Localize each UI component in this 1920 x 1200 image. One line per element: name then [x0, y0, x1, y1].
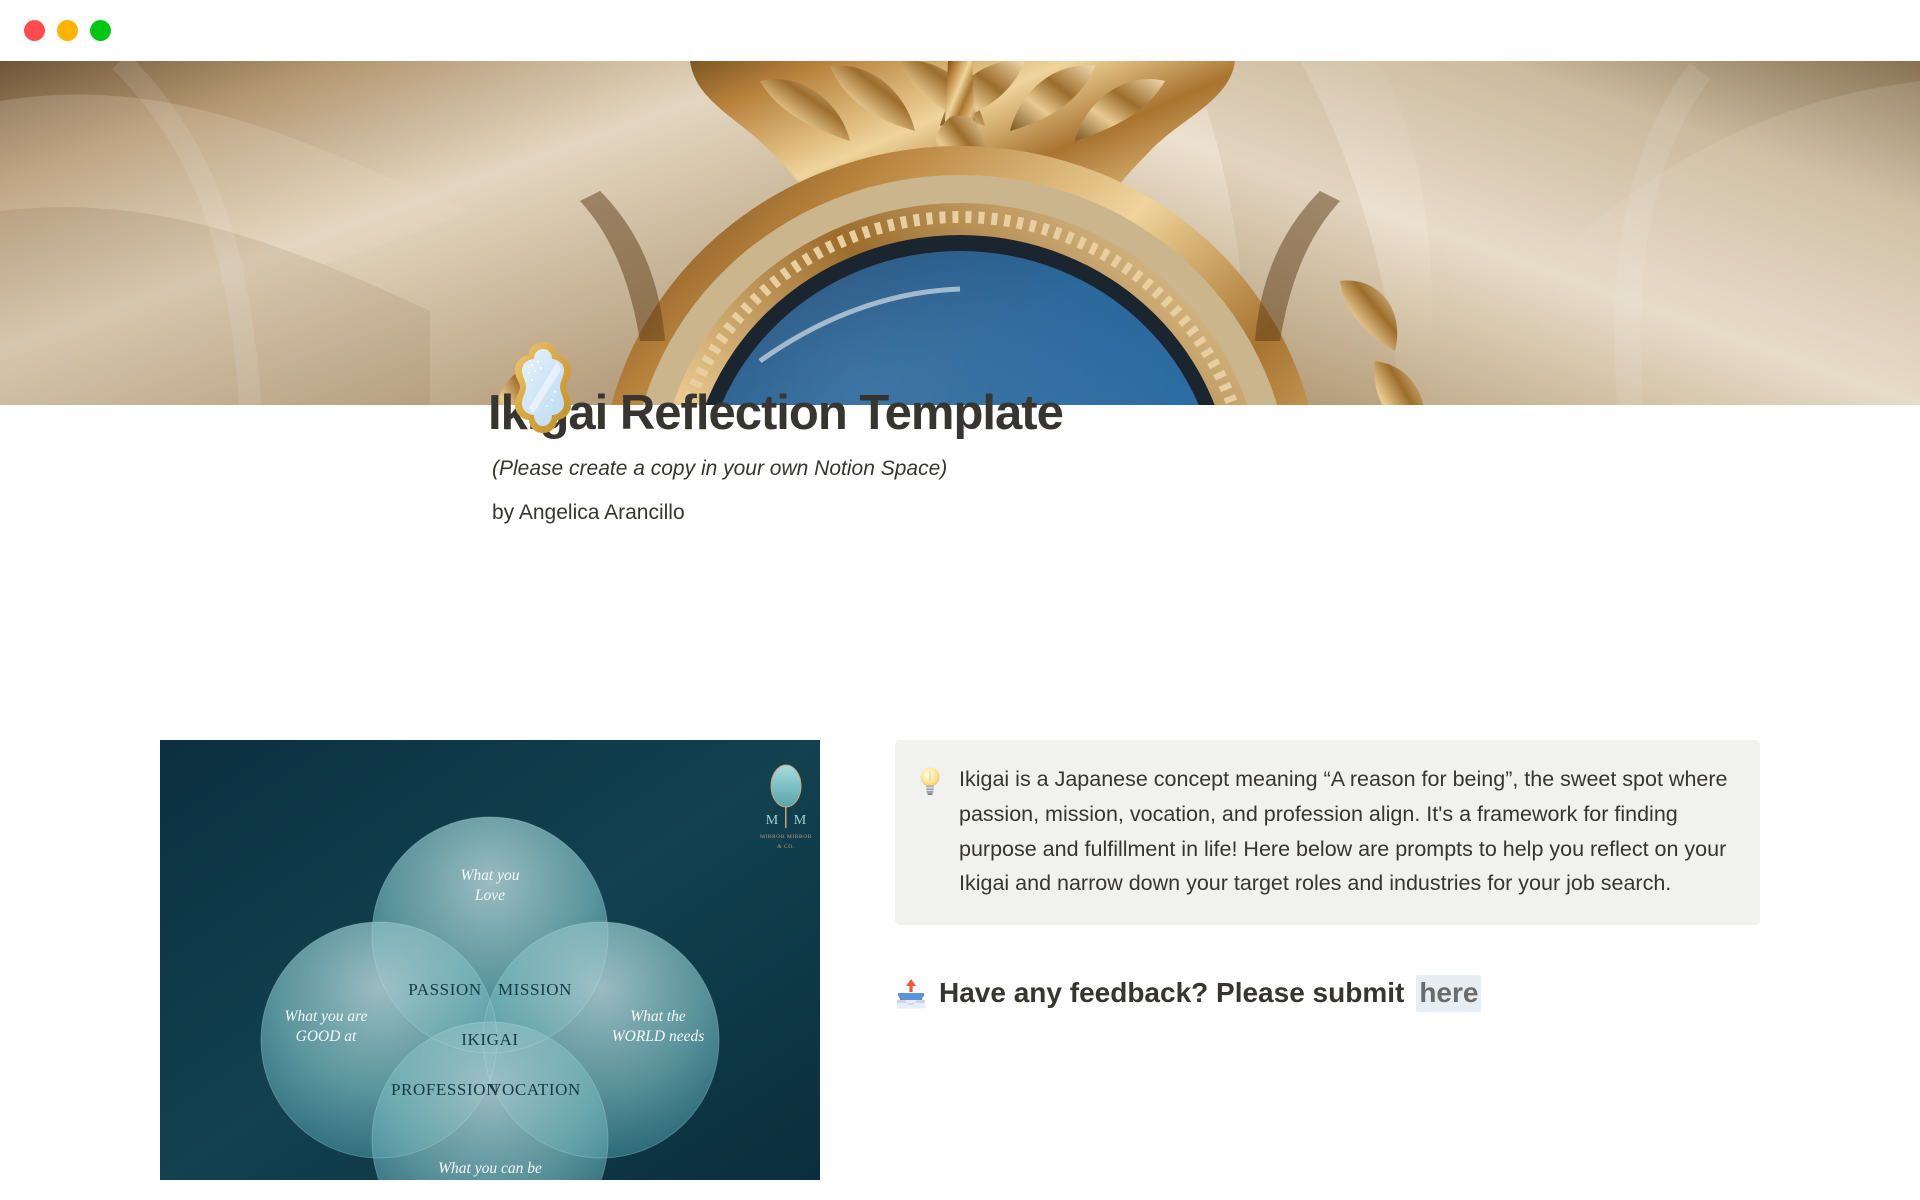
- page-subtitle[interactable]: (Please create a copy in your own Notion…: [492, 453, 947, 485]
- mirror-icon[interactable]: [505, 340, 581, 435]
- callout-block[interactable]: Ikigai is a Japanese concept meaning “A …: [895, 740, 1760, 925]
- page-title[interactable]: Ikigai Reflection Template: [488, 385, 1488, 441]
- feedback-text: Have any feedback? Please submit: [939, 975, 1404, 1011]
- ikigai-diagram-block[interactable]: What you Love What you are GOOD at What …: [160, 740, 820, 1180]
- window-maximize-button[interactable]: [90, 20, 111, 41]
- light-bulb-icon: [917, 765, 943, 795]
- inbox-tray-icon: [895, 978, 927, 1010]
- callout-text: Ikigai is a Japanese concept meaning “A …: [959, 762, 1734, 901]
- svg-text:What you are: What you are: [285, 1008, 368, 1025]
- window-titlebar: [0, 0, 1920, 61]
- svg-text:& CO.: & CO.: [777, 844, 795, 850]
- svg-text:WORLD needs: WORLD needs: [612, 1028, 705, 1045]
- svg-text:M: M: [794, 813, 807, 828]
- svg-text:MISSION: MISSION: [498, 980, 572, 999]
- svg-text:What the: What the: [630, 1008, 686, 1025]
- svg-text:M: M: [766, 813, 779, 828]
- svg-text:PROFESSION: PROFESSION: [391, 1080, 499, 1099]
- svg-text:VOCATION: VOCATION: [489, 1080, 581, 1099]
- svg-text:IKIGAI: IKIGAI: [461, 1030, 518, 1049]
- window-close-button[interactable]: [24, 20, 45, 41]
- svg-text:Love: Love: [474, 887, 505, 904]
- svg-text:MIRROR MIRROR: MIRROR MIRROR: [760, 834, 812, 840]
- window-minimize-button[interactable]: [57, 20, 78, 41]
- svg-text:What you: What you: [461, 867, 520, 884]
- cover-image[interactable]: [0, 61, 1920, 405]
- svg-text:GOOD at: GOOD at: [296, 1028, 357, 1045]
- page-byline[interactable]: by Angelica Arancillo: [492, 497, 685, 529]
- svg-text:What you can be: What you can be: [438, 1160, 542, 1177]
- right-column: Ikigai is a Japanese concept meaning “A …: [895, 740, 1760, 1012]
- feedback-submit-link[interactable]: here: [1416, 975, 1481, 1011]
- app-window: Ikigai Reflection Template (Please creat…: [0, 0, 1920, 1200]
- svg-text:PASSION: PASSION: [408, 980, 482, 999]
- feedback-line: Have any feedback? Please submit here: [895, 975, 1760, 1011]
